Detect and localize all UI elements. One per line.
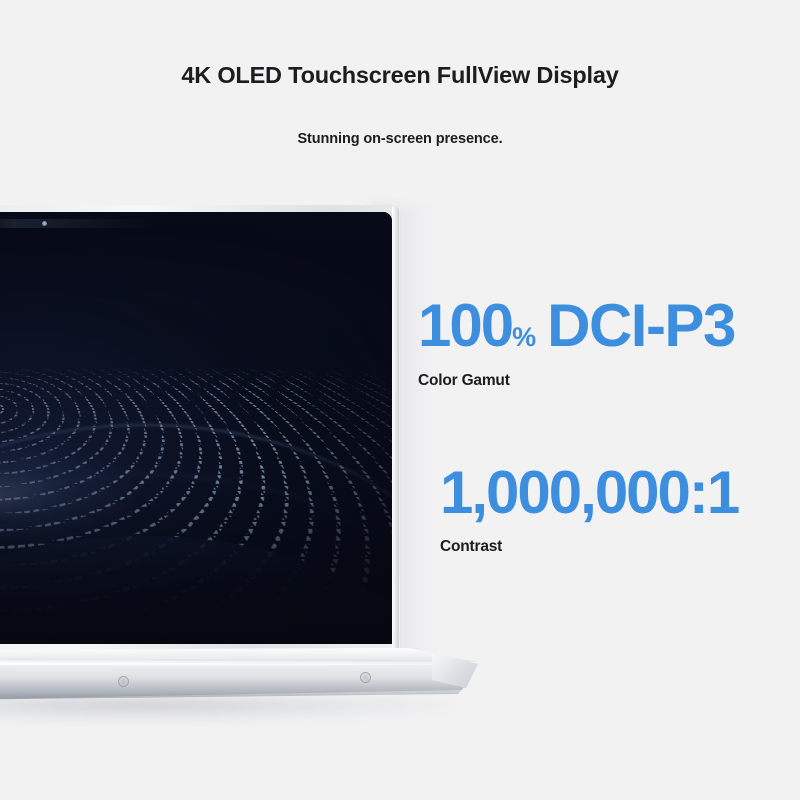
panel-depth-gradient bbox=[0, 212, 392, 644]
wave-fill bbox=[0, 536, 392, 644]
ripple-dot-mask bbox=[0, 368, 392, 644]
stat-label-contrast: Contrast bbox=[440, 538, 738, 556]
lid-right-edge-highlight bbox=[392, 207, 399, 653]
laptop-lid bbox=[0, 205, 400, 655]
panel-edge-gradient bbox=[0, 212, 392, 644]
ripple-vignette bbox=[0, 368, 392, 644]
wave-arc-primary bbox=[0, 424, 392, 636]
stat-number: 1,000,000:1 bbox=[440, 459, 738, 526]
stat-label-color-gamut: Color Gamut bbox=[418, 372, 735, 390]
stat-suffix: % bbox=[512, 322, 536, 352]
laptop-product-image bbox=[0, 205, 500, 725]
stat-color-gamut: 100%DCI-P3 Color Gamut bbox=[418, 296, 735, 390]
ripple-core-glow bbox=[0, 440, 144, 550]
port-icon bbox=[118, 676, 129, 687]
base-front-shading bbox=[0, 678, 478, 700]
webcam-icon bbox=[42, 221, 47, 226]
ripple-wallpaper bbox=[0, 368, 392, 644]
page-subtitle: Stunning on-screen presence. bbox=[0, 131, 800, 147]
stat-unit: DCI-P3 bbox=[547, 292, 735, 359]
laptop-display-panel bbox=[0, 212, 392, 644]
stat-value-color-gamut: 100%DCI-P3 bbox=[418, 296, 735, 356]
ripple-rings bbox=[0, 368, 392, 644]
stat-contrast: 1,000,000:1 Contrast bbox=[440, 463, 738, 556]
stat-number: 100 bbox=[418, 292, 512, 359]
wave-arc-secondary bbox=[0, 474, 392, 644]
product-feature-banner: 4K OLED Touchscreen FullView Display Stu… bbox=[0, 0, 800, 800]
laptop-base bbox=[0, 648, 486, 712]
page-title: 4K OLED Touchscreen FullView Display bbox=[0, 62, 800, 89]
port-icon bbox=[360, 672, 371, 683]
stat-value-contrast: 1,000,000:1 bbox=[440, 463, 738, 523]
top-bezel-strip bbox=[0, 219, 154, 228]
